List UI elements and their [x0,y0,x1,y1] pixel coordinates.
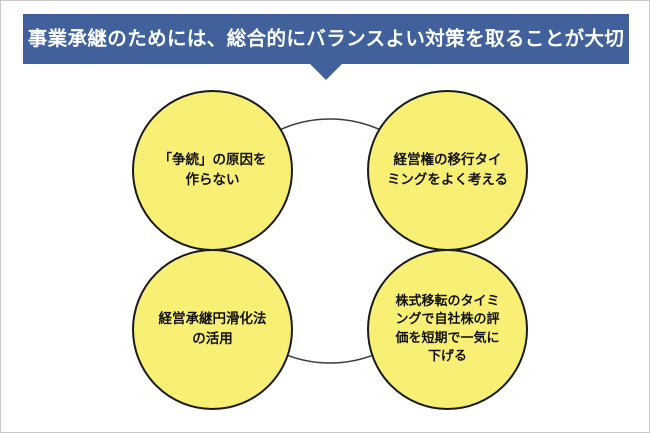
diagram-canvas: 事業承継のためには、総合的にバランスよい対策を取ることが大切 「争続」の原因を … [0,0,650,433]
concept-circle-label: 経営承継円滑化法 の活用 [145,310,281,349]
banner-title: 事業承継のためには、総合的にバランスよい対策を取ることが大切 [28,28,625,49]
concept-circle-label: 経営権の移行タイ ミングをよく考える [373,151,522,190]
concept-circle-top-left: 「争続」の原因を 作らない [132,90,293,251]
concept-circle-bottom-left: 経営承継円滑化法 の活用 [132,249,293,410]
concept-circle-top-right: 経営権の移行タイ ミングをよく考える [367,90,528,251]
concept-circle-bottom-right: 株式移転のタイミ ングで自社株の評 価を短期で一気に 下げる [367,249,528,410]
title-banner: 事業承継のためには、総合的にバランスよい対策を取ることが大切 [23,14,629,64]
concept-circle-label: 「争続」の原因を 作らない [145,151,281,190]
down-triangle-icon [309,63,343,80]
concept-circle-label: 株式移転のタイミ ングで自社株の評 価を短期で一気に 下げる [381,293,513,366]
